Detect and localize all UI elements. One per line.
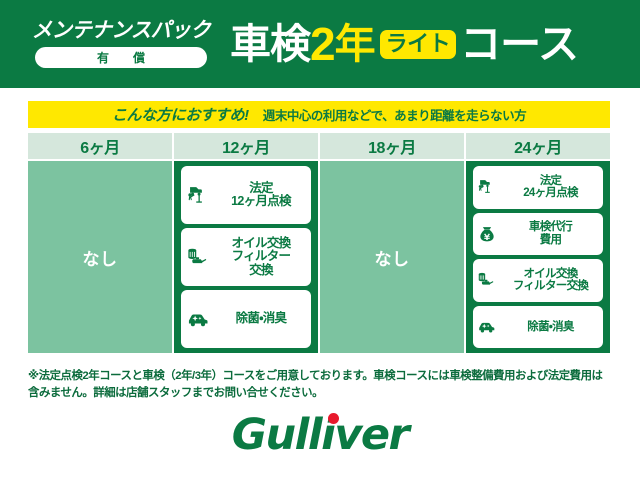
light-course-badge: ライト: [380, 30, 457, 59]
header-pack-group: メンテナンスパック 有 償: [0, 20, 228, 68]
oil-filter-change-icon: [185, 244, 212, 271]
service-chip-label: 車検代行費用: [501, 221, 600, 246]
recommendation-headline: こんな方におすすめ!: [112, 104, 249, 125]
plan-column-body-services: 法定12ヶ月点検オイル交換フィルター交換除菌・消臭: [174, 161, 318, 353]
plan-column-6m: 6ヶ月なし: [28, 133, 172, 353]
advertisement-page: メンテナンスパック 有 償 車検 2 年 ライト コース こんな方におすすめ! …: [0, 0, 640, 480]
no-service-label: なし: [375, 245, 410, 270]
plan-column-24m: 24ヶ月法定24ヶ月点検車検代行費用オイル交換フィルター交換除菌・消臭: [466, 133, 610, 353]
brand-logo-text: Gulliver: [232, 414, 409, 457]
pack-title: メンテナンスパック: [32, 20, 211, 41]
service-chip-label: オイル交換フィルター交換: [501, 268, 600, 293]
service-chip-label: オイル交換フィルター交換: [215, 237, 307, 278]
oil-filter-change-icon-wrapper: [185, 244, 212, 271]
recommendation-banner: こんな方におすすめ! 週末中心の利用などで、あまり距離を走らない方: [28, 101, 610, 128]
money-bag-yen-icon-wrapper: [476, 223, 498, 245]
service-chip: 車検代行費用: [473, 213, 603, 256]
car-lift-inspection-icon: [476, 176, 498, 198]
paid-badge: 有 償: [35, 47, 207, 68]
service-chip: 除菌・消臭: [181, 290, 311, 348]
course-prefix: 車検: [230, 24, 310, 65]
plan-column-body-empty: なし: [28, 161, 172, 353]
service-chip: 法定12ヶ月点検: [181, 166, 311, 224]
recommendation-description: 週末中心の利用などで、あまり距離を走らない方: [263, 105, 526, 124]
car-sanitize-icon-wrapper: [185, 306, 212, 333]
header-course-group: 車検 2 年 ライト コース: [228, 21, 640, 67]
no-service-label: なし: [83, 245, 118, 270]
course-number: 2: [310, 21, 335, 67]
car-sanitize-icon: [185, 306, 212, 333]
plan-column-header: 12ヶ月: [174, 133, 318, 159]
car-lift-inspection-icon-wrapper: [476, 176, 498, 198]
service-chip: 法定24ヶ月点検: [473, 166, 603, 209]
car-sanitize-icon: [476, 316, 498, 338]
plan-column-body-services: 法定24ヶ月点検車検代行費用オイル交換フィルター交換除菌・消臭: [466, 161, 610, 353]
service-chip-label: 法定12ヶ月点検: [215, 182, 307, 209]
plan-column-header: 24ヶ月: [466, 133, 610, 159]
plan-column-12m: 12ヶ月法定12ヶ月点検オイル交換フィルター交換除菌・消臭: [174, 133, 318, 353]
plan-column-body-empty: なし: [320, 161, 464, 353]
brand-logo-label: Gulliver: [232, 410, 409, 460]
plan-column-header: 18ヶ月: [320, 133, 464, 159]
brand-logo: Gulliver: [0, 414, 640, 457]
service-chip-label: 除菌・消臭: [215, 312, 307, 326]
course-suffix: コース: [460, 24, 578, 65]
service-chip: オイル交換フィルター交換: [181, 228, 311, 286]
oil-filter-change-icon-wrapper: [476, 269, 498, 291]
header-banner: メンテナンスパック 有 償 車検 2 年 ライト コース: [0, 0, 640, 88]
service-chip-label: 除菌・消臭: [501, 321, 600, 333]
service-chip-label: 法定24ヶ月点検: [501, 175, 600, 200]
service-chip: 除菌・消臭: [473, 306, 603, 349]
oil-filter-change-icon: [476, 269, 498, 291]
service-chip: オイル交換フィルター交換: [473, 259, 603, 302]
maintenance-plan-table: 6ヶ月なし12ヶ月法定12ヶ月点検オイル交換フィルター交換除菌・消臭18ヶ月なし…: [28, 133, 610, 353]
course-year-unit: 年: [335, 24, 375, 65]
plan-column-18m: 18ヶ月なし: [320, 133, 464, 353]
logo-red-dot-icon: [328, 413, 339, 424]
car-lift-inspection-icon: [185, 182, 212, 209]
car-lift-inspection-icon-wrapper: [185, 182, 212, 209]
car-sanitize-icon-wrapper: [476, 316, 498, 338]
plan-column-header: 6ヶ月: [28, 133, 172, 159]
disclaimer-note: ※法定点検2年コースと車検（2年/3年）コースをご用意しております。車検コースに…: [28, 368, 612, 401]
money-bag-yen-icon: [476, 223, 498, 245]
